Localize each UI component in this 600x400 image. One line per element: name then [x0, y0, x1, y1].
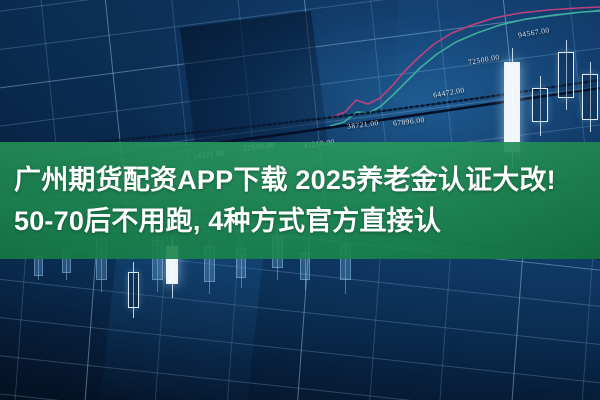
- background-image: 38721.0067896.0064472.0072500.0094567.00…: [0, 0, 600, 400]
- headline-band: 广州期货配资APP下载 2025养老金认证大改! 50-70后不用跑, 4种方式…: [0, 142, 600, 259]
- price-label: 64472.00: [432, 85, 465, 99]
- price-label: 67896.00: [393, 115, 426, 128]
- price-label: 38721.00: [347, 118, 380, 131]
- page-title: 广州期货配资APP下载 2025养老金认证大改! 50-70后不用跑, 4种方式…: [0, 160, 600, 242]
- price-label: 94567.00: [517, 25, 550, 39]
- price-label: 72500.00: [467, 52, 500, 66]
